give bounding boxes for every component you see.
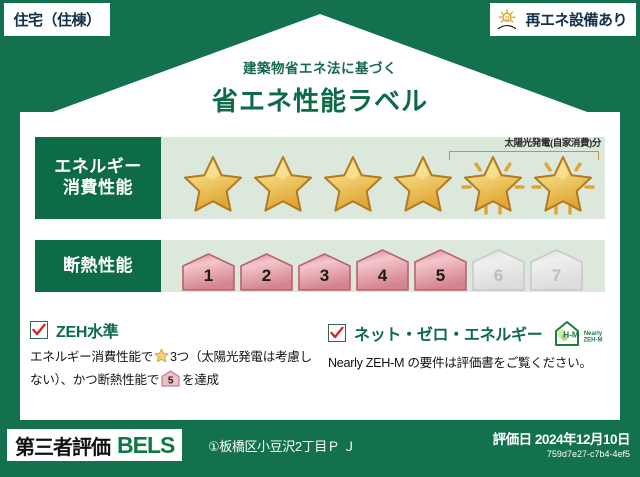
renewable-equipment-label: 再エネ設備あり	[525, 9, 627, 30]
solar-star-icon	[529, 151, 597, 217]
property-address: ①板橋区小豆沢2丁目Ｐ Ｊ	[208, 436, 355, 455]
insulation-level-5: 5	[413, 248, 468, 292]
bels-jp-label: 第三者評価	[15, 431, 110, 460]
nzeb-checkbox[interactable]	[328, 324, 346, 342]
title-subtitle: 建築物省エネ法に基づく	[0, 57, 640, 77]
insulation-level-6: 6	[471, 248, 526, 292]
zeh-description: エネルギー消費性能で3つ（太陽光発電は考慮しない）、かつ断熱性能で5を達成	[30, 348, 312, 393]
criteria-blocks: ZEH水準 エネルギー消費性能で3つ（太陽光発電は考慮しない）、かつ断熱性能で5…	[30, 318, 610, 393]
zeh-desc-part-c: を達成	[182, 373, 219, 387]
page-title: 省エネ性能ラベル	[0, 81, 640, 118]
svg-text:5: 5	[168, 375, 174, 386]
energy-label-line1: エネルギー	[54, 157, 142, 178]
insulation-level-1: 1	[181, 252, 236, 292]
zeh-checkbox[interactable]	[30, 321, 48, 339]
energy-label-line2: 消費性能	[63, 178, 133, 199]
insulation-level-3: 3	[297, 252, 352, 292]
zeh-m-house-icon: H-M Nearly ZEH-M	[552, 318, 608, 348]
insulation-level-scale: 1 2	[181, 240, 597, 292]
star-icon	[179, 151, 247, 217]
energy-performance-row: エネルギー 消費性能 太陽光発電(自家消費)分	[35, 137, 605, 219]
zeh-title: ZEH水準	[56, 318, 119, 342]
house-type-label: 住宅（住棟）	[13, 9, 100, 30]
criteria-zeh: ZEH水準 エネルギー消費性能で3つ（太陽光発電は考慮しない）、かつ断熱性能で5…	[30, 318, 312, 393]
evaluation-id: 759d7e27-c7b4-4ef5	[547, 449, 630, 459]
svg-text:Nearly: Nearly	[584, 331, 603, 337]
nzeb-description: Nearly ZEH-M の要件は評価書をご覧ください。	[328, 354, 610, 374]
criteria-nzeb: ネット・ゼロ・エネルギー H-M Nearly ZEH-M Nearly ZEH…	[328, 318, 610, 393]
title-block: 建築物省エネ法に基づく 省エネ性能ラベル	[0, 57, 640, 118]
insulation-level-7: 7	[529, 248, 584, 292]
insulation-level-4: 4	[355, 248, 410, 292]
svg-text:ZEH-M: ZEH-M	[584, 338, 603, 344]
svg-text:D: D	[506, 16, 510, 22]
zeh-desc-part-a: エネルギー消費性能で	[30, 350, 153, 364]
insulation-level-2: 2	[239, 252, 294, 292]
criteria-zeh-header: ZEH水準	[30, 318, 312, 342]
insulation-label: 断熱性能	[63, 256, 133, 277]
svg-text:H-M: H-M	[563, 330, 579, 340]
insulation-performance-row: 断熱性能 1	[35, 240, 605, 292]
solar-star-icon	[459, 151, 527, 217]
criteria-nzeb-header: ネット・ゼロ・エネルギー H-M Nearly ZEH-M	[328, 318, 610, 348]
energy-performance-label-box: エネルギー 消費性能	[35, 137, 161, 219]
insulation-badge-5: 5	[161, 370, 180, 394]
star-icon	[154, 352, 169, 366]
energy-rating-panel: 太陽光発電(自家消費)分	[161, 137, 605, 219]
star-icon	[249, 151, 317, 217]
solar-caption: 太陽光発電(自家消費)分	[504, 135, 601, 149]
bels-badge: 第三者評価 BELS	[7, 429, 182, 461]
energy-performance-label: 住宅（住棟） D 再エネ設備あり 建築物省エネ法に基づ	[0, 0, 640, 477]
evaluation-date: 評価日 2024年12月10日	[493, 428, 630, 448]
bels-en-label: BELS	[117, 432, 174, 459]
star-rating	[179, 149, 597, 217]
insulation-performance-label-box: 断熱性能	[35, 240, 161, 292]
footer-bar: 第三者評価 BELS ①板橋区小豆沢2丁目Ｐ Ｊ 評価日 2024年12月10日…	[0, 420, 640, 477]
nzeb-title: ネット・ゼロ・エネルギー	[354, 321, 542, 345]
star-icon	[319, 151, 387, 217]
star-icon	[389, 151, 457, 217]
house-type-tag: 住宅（住棟）	[4, 3, 110, 36]
sun-icon: D	[496, 9, 520, 31]
renewable-equipment-tag: D 再エネ設備あり	[490, 3, 636, 36]
insulation-rating-panel: 1 2	[161, 240, 605, 292]
